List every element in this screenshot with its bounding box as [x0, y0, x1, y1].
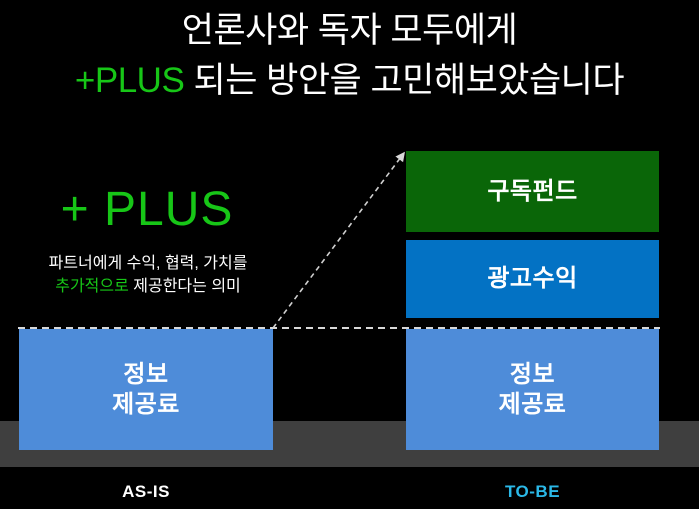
- bar-tobe-ad-revenue-label: 광고수익: [487, 264, 577, 294]
- bar-tobe-info-fee-label-line1: 정보: [499, 360, 567, 390]
- plus-description-line-2-rest: 제공한다는 의미: [129, 278, 241, 295]
- bar-asis-info-fee-label-line2: 제공료: [112, 390, 180, 420]
- title-line-2-rest: 되는 방안을 고민해보았습니다: [184, 61, 624, 100]
- title-line-1: 언론사와 독자 모두에게: [0, 6, 699, 56]
- bar-tobe-info-fee: 정보 제공료: [406, 329, 659, 450]
- plus-description: 파트너에게 수익, 협력, 가치를 추가적으로 제공한다는 의미: [10, 252, 286, 298]
- plus-heading: + PLUS: [18, 182, 276, 238]
- bar-asis-info-fee: 정보 제공료: [19, 329, 273, 450]
- bar-tobe-info-fee-label: 정보 제공료: [499, 360, 567, 420]
- bar-asis-info-fee-label: 정보 제공료: [112, 360, 180, 420]
- title-line-2: +PLUS 되는 방안을 고민해보았습니다: [0, 56, 699, 106]
- bar-tobe-info-fee-label-line2: 제공료: [499, 390, 567, 420]
- growth-arrow-icon: [273, 153, 404, 328]
- slide-title: 언론사와 독자 모두에게 +PLUS 되는 방안을 고민해보았습니다: [0, 6, 699, 106]
- plus-description-highlight: 추가적으로: [55, 278, 129, 295]
- bar-tobe-subscription-fund: 구독펀드: [406, 151, 659, 232]
- slide-canvas: 언론사와 독자 모두에게 +PLUS 되는 방안을 고민해보았습니다 + PLU…: [0, 0, 699, 509]
- plus-description-line-2: 추가적으로 제공한다는 의미: [10, 275, 286, 298]
- bar-asis-info-fee-label-line1: 정보: [112, 360, 180, 390]
- title-plus-highlight: +PLUS: [75, 61, 184, 100]
- bar-tobe-ad-revenue: 광고수익: [406, 240, 659, 318]
- bar-tobe-subscription-fund-label: 구독펀드: [487, 177, 577, 207]
- footer-label-tobe: TO-BE: [406, 481, 659, 503]
- footer-label-asis: AS-IS: [19, 481, 273, 503]
- plus-description-line-1: 파트너에게 수익, 협력, 가치를: [10, 252, 286, 275]
